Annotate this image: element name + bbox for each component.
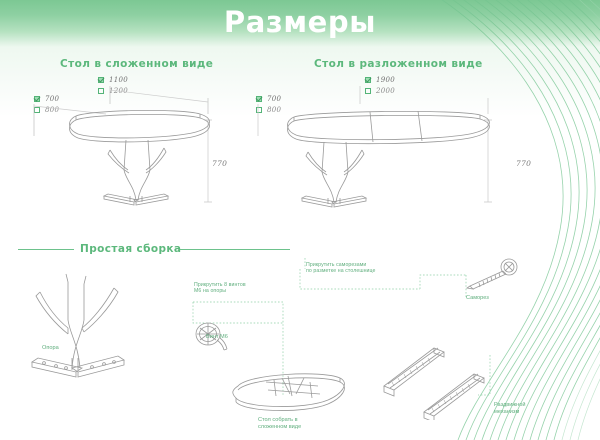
label-slide-mechanism: Раздвижной механизм [494,402,525,415]
section-rule-left [18,249,74,250]
poster-canvas: Размеры Стол в сложенном виде [0,0,600,440]
page-title: Размеры [0,5,600,39]
option-row[interactable]: 1100 [98,75,128,84]
section-rule-right [180,249,290,250]
note-screws-to-tabletop: Прикрутить саморезами по разметке на сто… [306,262,376,275]
support-part-drawing [26,268,146,393]
label-table-assembled: Стол собрать в сложенном виде [258,417,301,430]
section-title-assembly: Простая сборка [80,243,181,255]
unfolded-table-drawing [252,84,520,214]
option-label: 1900 [376,76,395,84]
self-tapping-screw-drawing [462,258,522,292]
assembled-table-drawing [222,360,352,422]
label-support: Опора [42,345,59,352]
option-row[interactable]: 1900 [365,75,395,84]
note-screws-to-supports: Прикрутить 8 винтов М6 на опоры [194,282,246,295]
slide-mechanism-drawing [378,340,498,420]
option-label: 1100 [109,76,128,84]
label-screw-m6: Винт М6 [206,334,228,341]
checkbox-checked-icon[interactable] [365,77,371,83]
label-self-tapping-screw: Саморез [466,295,489,302]
section-title-unfolded: Стол в разложенном виде [314,58,483,70]
section-title-folded: Стол в сложенном виде [60,58,213,70]
checkbox-checked-icon[interactable] [98,77,104,83]
folded-table-drawing [30,84,260,214]
